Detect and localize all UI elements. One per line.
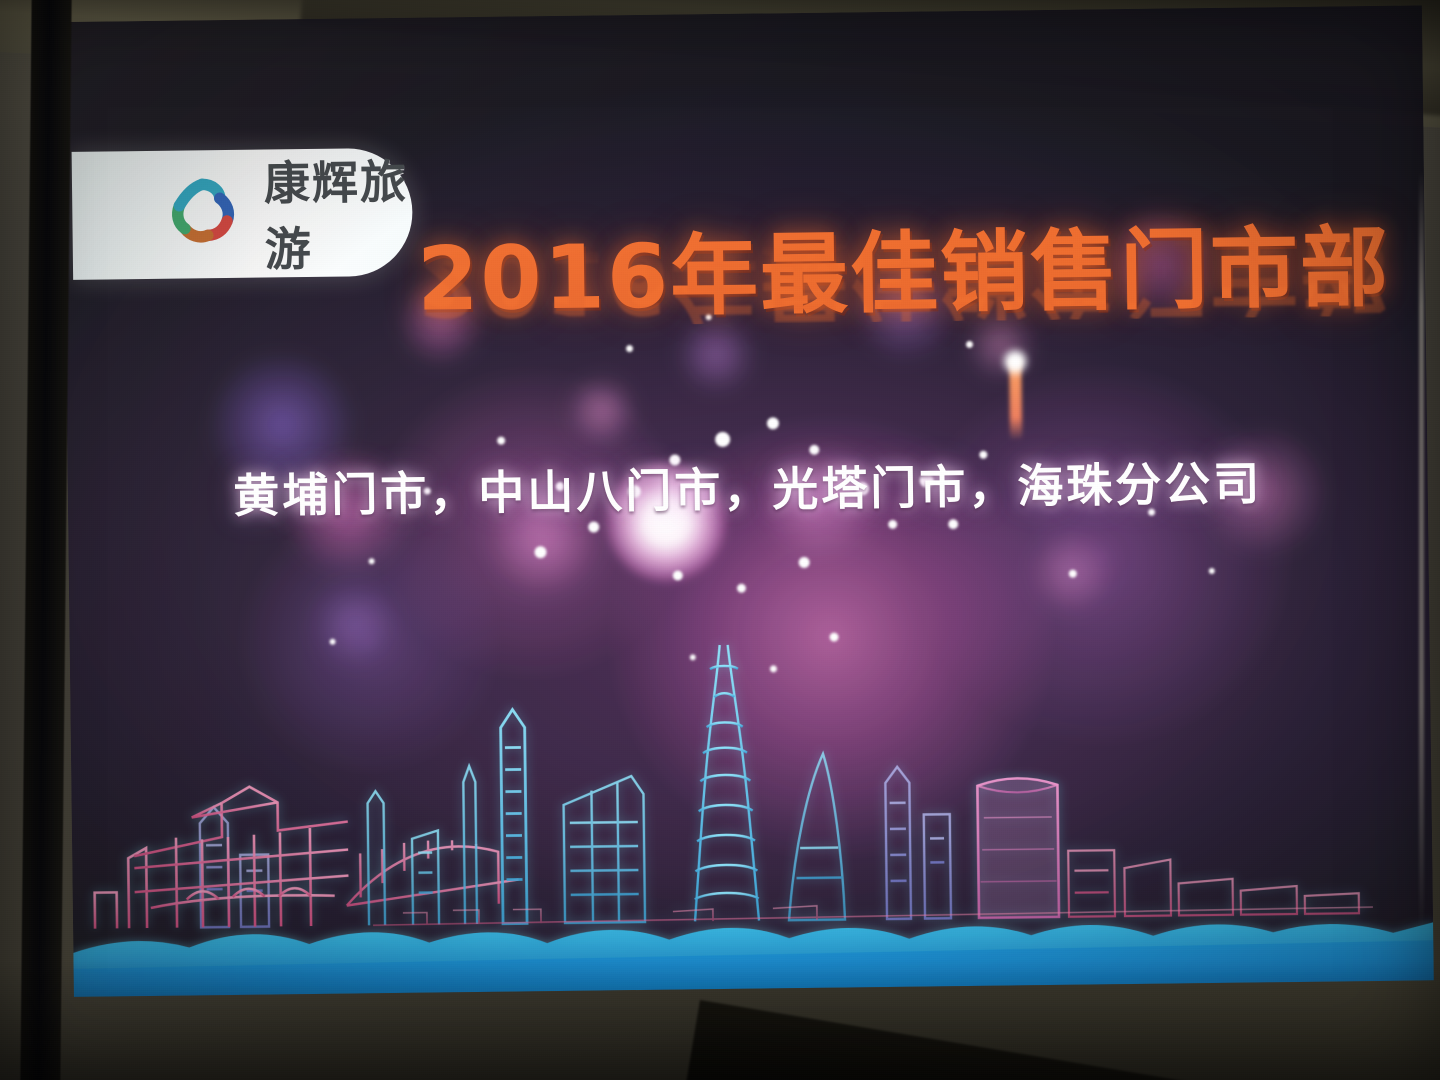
projector-photo: 2016年最佳销售门市部 2016年最佳销售门市部 黄埔门市，中山八门市，光塔门… bbox=[0, 0, 1440, 1080]
bottom-shadow bbox=[0, 960, 1440, 1080]
projector-haze bbox=[62, 5, 1434, 997]
screen-frame-right-seam bbox=[1419, 170, 1424, 930]
projected-slide: 2016年最佳销售门市部 2016年最佳销售门市部 黄埔门市，中山八门市，光塔门… bbox=[62, 5, 1434, 997]
